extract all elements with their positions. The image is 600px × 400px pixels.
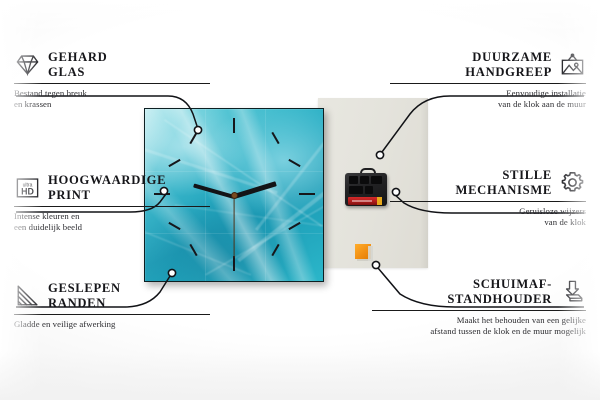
feature-title: STILLE <box>456 168 553 183</box>
diamond-icon <box>14 51 41 78</box>
feature-desc-2: en krassen <box>14 99 210 109</box>
clock-marker-6 <box>233 256 235 271</box>
feature-desc-1: Bestand tegen breuk <box>14 88 210 98</box>
feature-title-2: HANDGREEP <box>465 65 552 80</box>
feature-title: GEHARD <box>48 50 107 65</box>
clock-second-hand <box>233 196 234 258</box>
feature-duurzame-handgreep: DUURZAME HANDGREEP Eenvoudige installati… <box>390 50 586 109</box>
clock-mechanism <box>345 168 387 208</box>
feature-title-2: GLAS <box>48 65 107 80</box>
mechanism-battery <box>348 197 382 205</box>
product-infographic: GEHARD GLAS Bestand tegen breuk en krass… <box>0 0 600 400</box>
feature-desc-1: Geruisloze wijzers <box>390 206 586 216</box>
divider <box>390 83 586 84</box>
feature-title-2: RANDEN <box>48 296 121 311</box>
feature-title-2: STANDHOUDER <box>447 292 552 307</box>
feature-desc-1: Gladde en veilige afwerking <box>14 319 210 329</box>
feature-hoogwaardige-print: ultra HD HOOGWAARDIGE PRINT Intense kleu… <box>14 173 210 232</box>
feature-desc-1: Intense kleuren en <box>14 211 210 221</box>
feature-desc-2: van de klok <box>390 217 586 227</box>
divider <box>14 206 210 207</box>
feature-title-2: MECHANISME <box>456 183 553 198</box>
feature-stille-mechanisme: STILLE MECHANISME Geruisloze wijzers van… <box>390 168 586 227</box>
clock-hand-hub <box>231 192 238 199</box>
feature-desc-2: van de klok aan de muur <box>390 99 586 109</box>
feature-desc-1: Eenvoudige installatie <box>390 88 586 98</box>
divider <box>372 310 586 311</box>
feature-desc-1: Maakt het behouden van een gelijke <box>372 315 586 325</box>
beveled-edge-icon <box>14 282 41 309</box>
feature-gehard-glas: GEHARD GLAS Bestand tegen breuk en krass… <box>14 50 210 109</box>
feature-desc-2: afstand tussen de klok en de muur mogeli… <box>372 326 586 336</box>
clock-marker-3 <box>299 193 315 195</box>
feature-title: DUURZAME <box>465 50 552 65</box>
ultra-hd-icon: ultra HD <box>14 174 41 201</box>
divider <box>14 314 210 315</box>
divider <box>390 201 586 202</box>
clock-marker-12 <box>233 118 235 133</box>
feature-geslepen-randen: GESLEPEN RANDEN Gladde en veilige afwerk… <box>14 281 210 330</box>
press-down-arrow-icon <box>559 278 586 305</box>
feature-title: HOOGWAARDIGE <box>48 173 166 188</box>
feature-desc-2: een duidelijk beeld <box>14 222 210 232</box>
framed-picture-icon <box>559 51 586 78</box>
feature-title: SCHUIMAF- <box>447 277 552 292</box>
svg-text:HD: HD <box>21 186 34 196</box>
divider <box>14 83 210 84</box>
feature-title-2: PRINT <box>48 188 166 203</box>
feature-schuimafstandhouder: SCHUIMAF- STANDHOUDER Maakt het behouden… <box>372 277 586 336</box>
foam-spacer <box>355 244 371 259</box>
gear-icon <box>559 169 586 196</box>
feature-title: GESLEPEN <box>48 281 121 296</box>
mechanism-body <box>345 173 387 206</box>
